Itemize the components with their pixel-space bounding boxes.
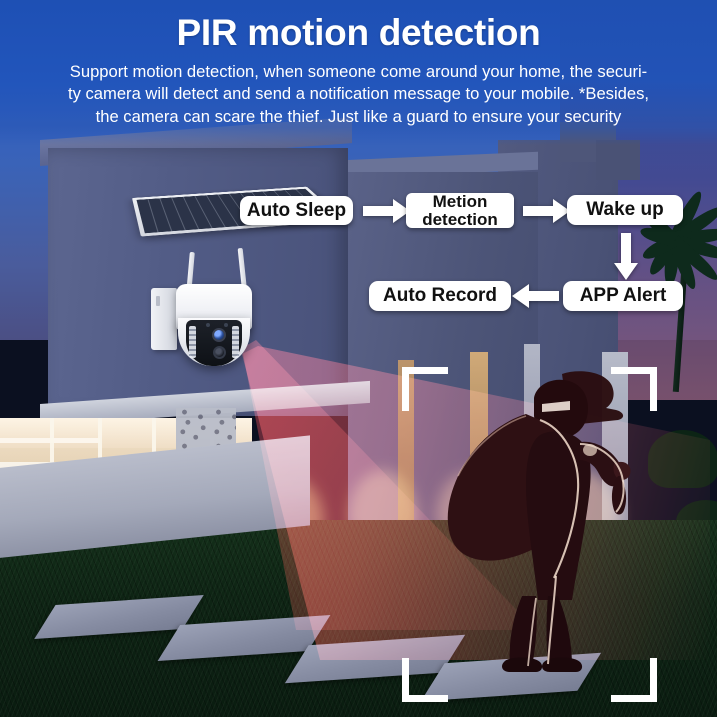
ir-led-strip <box>189 326 196 358</box>
header-description-line: the camera can scare the thief. Just lik… <box>14 106 703 128</box>
camera-main-lens <box>212 328 226 342</box>
arrow-wake-to-alert <box>613 233 639 281</box>
camera-secondary-lens <box>213 346 226 359</box>
arrow-alert-to-record <box>512 283 560 309</box>
camera-sensor-dot <box>206 323 210 327</box>
flow-step-wake-up: Wake up <box>567 195 683 225</box>
house-roof-step <box>596 140 640 180</box>
flow-step-app-alert: APP Alert <box>563 281 683 311</box>
flow-step-auto-record: Auto Record <box>369 281 511 311</box>
header-description-line: Support motion detection, when someone c… <box>14 61 703 83</box>
arrow-sleep-to-detection <box>363 198 411 224</box>
header-description: Support motion detection, when someone c… <box>0 61 717 128</box>
page-title: PIR motion detection <box>0 14 717 53</box>
flow-step-auto-sleep: Auto Sleep <box>240 196 353 225</box>
camera-lens-face <box>186 320 242 366</box>
header-description-line: ty camera will detect and send a notific… <box>14 83 703 105</box>
arrow-detection-to-wake <box>523 198 571 224</box>
camera-wall-mount <box>151 288 177 350</box>
product-marketing-image: PIR motion detection Support motion dete… <box>0 0 717 717</box>
flow-step-motion-detection: Metion detection <box>406 193 514 228</box>
ir-led-strip <box>232 326 239 358</box>
header-banner: PIR motion detection Support motion dete… <box>0 0 717 145</box>
thief-silhouette <box>430 368 670 678</box>
camera-sensor-dot <box>224 323 228 327</box>
